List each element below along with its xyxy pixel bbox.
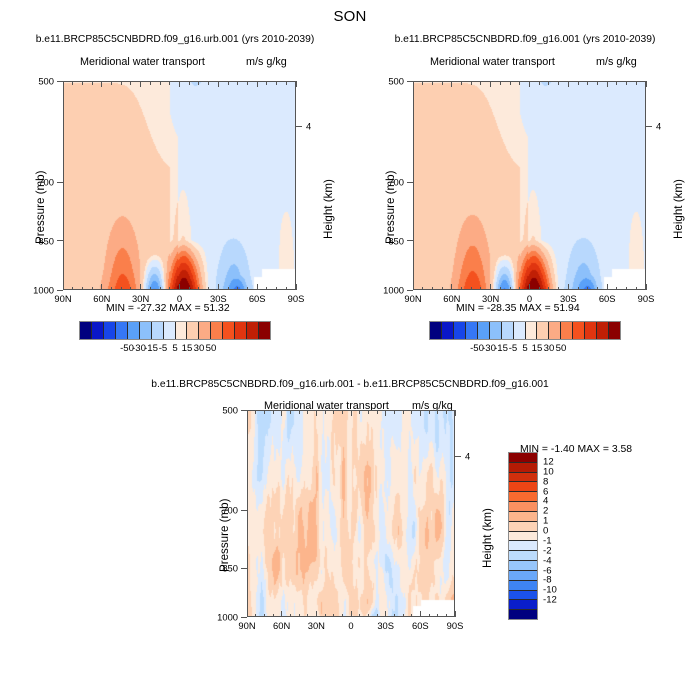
panel-top-left: b.e11.BRCP85C5CNBDRD.f09_g16.urb.001 (yr…: [0, 0, 350, 360]
colorbar-swatch: [585, 322, 597, 339]
y-tick-label: 1000: [21, 285, 54, 296]
colorbar-swatch: [509, 600, 537, 610]
x-tick-major: [529, 81, 530, 87]
x-tick-minor: [160, 81, 161, 85]
x-tick-label: 90N: [238, 620, 255, 631]
x-tick-minor: [299, 410, 300, 414]
x-tick-minor: [198, 287, 199, 291]
panel-top-right-height-axis-title: Height (km): [672, 179, 685, 239]
x-tick-major: [296, 81, 297, 87]
x-tick-minor: [500, 287, 501, 291]
colorbar-swatch: [502, 322, 514, 339]
y-tick-major: [57, 81, 63, 82]
colorbar-swatch: [509, 591, 537, 601]
x-tick-major: [316, 611, 317, 617]
x-tick-minor: [286, 287, 287, 291]
colorbar-swatch: [223, 322, 235, 339]
x-tick-minor: [273, 410, 274, 414]
x-tick-major: [257, 284, 258, 290]
x-tick-minor: [403, 614, 404, 618]
x-tick-major: [351, 410, 352, 416]
x-tick-minor: [342, 410, 343, 414]
x-tick-label: 60S: [249, 293, 266, 304]
x-tick-minor: [286, 81, 287, 85]
x-tick-minor: [150, 287, 151, 291]
x-tick-major: [385, 611, 386, 617]
x-tick-minor: [394, 614, 395, 618]
x-tick-major: [281, 410, 282, 416]
panel-bottom-diff-height-axis-title: Height (km): [481, 508, 494, 568]
colorbar-tick-label: -5: [509, 343, 518, 354]
colorbar-swatch: [247, 322, 259, 339]
x-tick-minor: [636, 287, 637, 291]
x-tick-label: 90N: [54, 293, 71, 304]
x-tick-minor: [82, 287, 83, 291]
x-tick-minor: [437, 614, 438, 618]
x-tick-major: [451, 81, 452, 87]
colorbar-swatch: [430, 322, 442, 339]
colorbar-swatch: [454, 322, 466, 339]
panel-top-left-yaxis-title: Pressure (mb): [34, 171, 47, 244]
panel-top-right-minmax: MIN = -28.35 MAX = 51.94: [456, 303, 580, 314]
colorbar-swatch: [509, 502, 537, 512]
panel-bottom-diff-axes: 90N60N30N030S60S90S50070085010004: [0, 360, 700, 700]
colorbar-swatch: [509, 581, 537, 591]
x-tick-major: [490, 284, 491, 290]
colorbar-swatch: [187, 322, 199, 339]
x-tick-major: [179, 81, 180, 87]
x-tick-minor: [247, 287, 248, 291]
x-tick-minor: [169, 287, 170, 291]
x-tick-label: 90S: [447, 620, 464, 631]
panel-top-right: b.e11.BRCP85C5CNBDRD.f09_g16.001 (yrs 20…: [350, 0, 700, 360]
x-tick-minor: [636, 81, 637, 85]
x-tick-major: [529, 284, 530, 290]
x-tick-label: 60S: [599, 293, 616, 304]
colorbar-tick-label: 30: [544, 343, 555, 354]
x-tick-minor: [237, 287, 238, 291]
panel-top-right-colorbar[interactable]: [429, 321, 621, 340]
colorbar-tick-label: -12: [543, 595, 557, 606]
x-tick-major: [568, 81, 569, 87]
x-tick-minor: [189, 287, 190, 291]
x-tick-minor: [276, 81, 277, 85]
x-tick-minor: [616, 287, 617, 291]
x-tick-minor: [307, 410, 308, 414]
panel-top-left-colorbar-labels: -50-30-15-55153050: [79, 343, 271, 357]
x-tick-minor: [247, 81, 248, 85]
x-tick-minor: [539, 287, 540, 291]
x-tick-minor: [548, 287, 549, 291]
x-tick-minor: [442, 287, 443, 291]
colorbar-swatch: [509, 541, 537, 551]
x-tick-minor: [437, 410, 438, 414]
colorbar-swatch: [509, 482, 537, 492]
x-tick-label: 30S: [377, 620, 394, 631]
x-tick-minor: [377, 410, 378, 414]
x-tick-minor: [368, 614, 369, 618]
x-tick-minor: [411, 410, 412, 414]
colorbar-swatch: [509, 610, 537, 619]
x-tick-major: [257, 81, 258, 87]
colorbar-tick-label: 50: [556, 343, 567, 354]
colorbar-tick-label: 5: [172, 343, 177, 354]
x-tick-minor: [228, 287, 229, 291]
x-tick-major: [455, 410, 456, 416]
x-tick-minor: [411, 614, 412, 618]
colorbar-swatch: [199, 322, 211, 339]
colorbar-swatch: [509, 473, 537, 483]
x-tick-minor: [597, 81, 598, 85]
height-tick-label: 4: [656, 121, 661, 132]
x-tick-minor: [130, 287, 131, 291]
x-tick-major: [607, 284, 608, 290]
x-tick-minor: [446, 614, 447, 618]
x-tick-minor: [587, 81, 588, 85]
colorbar-swatch: [609, 322, 620, 339]
panel-top-left-height-axis-title: Height (km): [322, 179, 335, 239]
x-tick-minor: [189, 81, 190, 85]
x-tick-minor: [432, 81, 433, 85]
x-tick-minor: [333, 614, 334, 618]
height-tick-label: 4: [465, 451, 470, 462]
y-tick-label: 1000: [205, 612, 238, 623]
x-tick-minor: [121, 81, 122, 85]
colorbar-swatch: [509, 512, 537, 522]
x-tick-minor: [130, 81, 131, 85]
x-tick-minor: [368, 410, 369, 414]
x-tick-minor: [266, 81, 267, 85]
x-tick-minor: [208, 287, 209, 291]
x-tick-minor: [307, 614, 308, 618]
colorbar-swatch: [490, 322, 502, 339]
x-tick-label: 60N: [273, 620, 290, 631]
x-tick-minor: [578, 81, 579, 85]
height-tick-label: 4: [306, 121, 311, 132]
x-tick-minor: [519, 287, 520, 291]
x-tick-minor: [264, 410, 265, 414]
y-tick-label: 1000: [371, 285, 404, 296]
x-tick-minor: [442, 81, 443, 85]
y-tick-major: [407, 81, 413, 82]
panel-top-right-colorbar-labels: -50-30-15-55153050: [429, 343, 621, 357]
x-tick-minor: [510, 81, 511, 85]
x-tick-minor: [208, 81, 209, 85]
colorbar-swatch: [259, 322, 270, 339]
x-tick-minor: [160, 287, 161, 291]
x-tick-minor: [266, 287, 267, 291]
panel-bottom-diff-colorbar-labels: 1210864210-1-2-4-6-8-10-12: [543, 452, 583, 620]
x-tick-minor: [276, 287, 277, 291]
panel-bottom-diff-yaxis-title: Pressure (mb): [218, 499, 231, 572]
colorbar-swatch: [176, 322, 188, 339]
x-tick-major: [218, 284, 219, 290]
x-tick-major: [568, 284, 569, 290]
x-tick-minor: [403, 410, 404, 414]
colorbar-tick-label: -5: [159, 343, 168, 354]
x-tick-minor: [150, 81, 151, 85]
x-tick-minor: [480, 287, 481, 291]
x-tick-label: 90N: [404, 293, 421, 304]
x-tick-minor: [616, 81, 617, 85]
x-tick-minor: [422, 81, 423, 85]
x-tick-minor: [597, 287, 598, 291]
colorbar-tick-label: -15: [494, 343, 508, 354]
x-tick-major: [351, 611, 352, 617]
x-tick-major: [316, 410, 317, 416]
x-tick-minor: [325, 410, 326, 414]
y-tick-major: [57, 240, 63, 241]
y-tick-label: 500: [21, 76, 54, 87]
height-tick-major: [296, 126, 302, 127]
y-tick-major: [241, 568, 247, 569]
x-tick-minor: [82, 81, 83, 85]
x-tick-minor: [72, 81, 73, 85]
x-tick-minor: [377, 614, 378, 618]
y-tick-label: 500: [371, 76, 404, 87]
y-tick-major: [241, 617, 247, 618]
colorbar-swatch: [509, 463, 537, 473]
x-tick-minor: [587, 287, 588, 291]
x-tick-minor: [92, 287, 93, 291]
colorbar-swatch: [509, 522, 537, 532]
x-tick-minor: [558, 81, 559, 85]
x-tick-major: [646, 284, 647, 290]
x-tick-minor: [72, 287, 73, 291]
colorbar-swatch: [116, 322, 128, 339]
colorbar-swatch: [211, 322, 223, 339]
x-tick-major: [63, 81, 64, 87]
height-tick-major: [455, 456, 461, 457]
y-tick-major: [57, 182, 63, 183]
panel-bottom-diff-colorbar[interactable]: [508, 452, 538, 620]
x-tick-minor: [626, 81, 627, 85]
x-tick-minor: [255, 614, 256, 618]
x-tick-minor: [429, 614, 430, 618]
panel-top-left-colorbar[interactable]: [79, 321, 271, 340]
x-tick-minor: [480, 81, 481, 85]
panel-top-left-minmax: MIN = -27.32 MAX = 51.32: [106, 303, 230, 314]
x-tick-label: 0: [348, 620, 353, 631]
x-tick-major: [385, 410, 386, 416]
x-tick-minor: [333, 410, 334, 414]
y-tick-major: [407, 182, 413, 183]
colorbar-tick-label: 15: [532, 343, 543, 354]
panel-top-right-yaxis-title: Pressure (mb): [384, 171, 397, 244]
x-tick-major: [420, 611, 421, 617]
x-tick-major: [420, 410, 421, 416]
colorbar-swatch: [597, 322, 609, 339]
x-tick-minor: [500, 81, 501, 85]
x-tick-minor: [461, 287, 462, 291]
colorbar-swatch: [466, 322, 478, 339]
colorbar-swatch: [561, 322, 573, 339]
x-tick-minor: [626, 287, 627, 291]
colorbar-swatch: [128, 322, 140, 339]
colorbar-swatch: [509, 551, 537, 561]
x-tick-minor: [429, 410, 430, 414]
x-tick-major: [179, 284, 180, 290]
colorbar-swatch: [152, 322, 164, 339]
x-tick-major: [101, 284, 102, 290]
colorbar-swatch: [514, 322, 526, 339]
x-tick-minor: [290, 614, 291, 618]
x-tick-minor: [519, 81, 520, 85]
x-tick-label: 90S: [638, 293, 655, 304]
x-tick-minor: [290, 410, 291, 414]
x-tick-minor: [325, 614, 326, 618]
x-tick-minor: [273, 614, 274, 618]
colorbar-tick-label: 30: [194, 343, 205, 354]
colorbar-swatch: [509, 561, 537, 571]
x-tick-minor: [111, 287, 112, 291]
colorbar-swatch: [537, 322, 549, 339]
y-tick-label: 500: [205, 405, 238, 416]
colorbar-swatch: [235, 322, 247, 339]
colorbar-swatch: [140, 322, 152, 339]
x-tick-minor: [121, 287, 122, 291]
x-tick-minor: [548, 81, 549, 85]
colorbar-swatch: [509, 492, 537, 502]
x-tick-major: [413, 81, 414, 87]
colorbar-swatch: [442, 322, 454, 339]
x-tick-minor: [198, 81, 199, 85]
x-tick-minor: [111, 81, 112, 85]
x-tick-major: [218, 81, 219, 87]
x-tick-major: [490, 81, 491, 87]
colorbar-swatch: [526, 322, 538, 339]
x-tick-minor: [461, 81, 462, 85]
x-tick-major: [281, 611, 282, 617]
x-tick-major: [140, 284, 141, 290]
y-tick-major: [407, 240, 413, 241]
colorbar-tick-label: 15: [182, 343, 193, 354]
x-tick-major: [451, 284, 452, 290]
x-tick-major: [455, 611, 456, 617]
y-tick-major: [241, 510, 247, 511]
x-tick-major: [646, 81, 647, 87]
colorbar-swatch: [509, 532, 537, 542]
colorbar-swatch: [549, 322, 561, 339]
x-tick-label: 30N: [308, 620, 325, 631]
x-tick-minor: [471, 287, 472, 291]
x-tick-minor: [422, 287, 423, 291]
colorbar-swatch: [92, 322, 104, 339]
panel-bottom-diff: b.e11.BRCP85C5CNBDRD.f09_g16.urb.001 - b…: [0, 360, 700, 700]
colorbar-swatch: [478, 322, 490, 339]
x-tick-major: [140, 81, 141, 87]
y-tick-major: [241, 410, 247, 411]
colorbar-tick-label: -15: [144, 343, 158, 354]
x-tick-minor: [359, 614, 360, 618]
x-tick-minor: [169, 81, 170, 85]
colorbar-tick-label: 5: [522, 343, 527, 354]
x-tick-label: 60S: [412, 620, 429, 631]
x-tick-minor: [446, 410, 447, 414]
x-tick-minor: [299, 614, 300, 618]
x-tick-major: [247, 410, 248, 416]
y-tick-major: [407, 290, 413, 291]
x-tick-major: [296, 284, 297, 290]
y-tick-major: [57, 290, 63, 291]
x-tick-minor: [558, 287, 559, 291]
x-tick-minor: [359, 410, 360, 414]
x-tick-label: 90S: [288, 293, 305, 304]
x-tick-minor: [471, 81, 472, 85]
x-tick-minor: [342, 614, 343, 618]
x-tick-minor: [264, 614, 265, 618]
colorbar-swatch: [164, 322, 176, 339]
colorbar-swatch: [104, 322, 116, 339]
height-tick-major: [646, 126, 652, 127]
x-tick-minor: [432, 287, 433, 291]
x-tick-minor: [92, 81, 93, 85]
x-tick-major: [101, 81, 102, 87]
colorbar-swatch: [80, 322, 92, 339]
x-tick-minor: [228, 81, 229, 85]
x-tick-minor: [394, 410, 395, 414]
colorbar-swatch: [509, 571, 537, 581]
x-tick-minor: [255, 410, 256, 414]
x-tick-minor: [578, 287, 579, 291]
colorbar-swatch: [573, 322, 585, 339]
x-tick-minor: [510, 287, 511, 291]
x-tick-minor: [539, 81, 540, 85]
x-tick-minor: [237, 81, 238, 85]
colorbar-tick-label: 50: [206, 343, 217, 354]
x-tick-major: [607, 81, 608, 87]
colorbar-swatch: [509, 453, 537, 463]
